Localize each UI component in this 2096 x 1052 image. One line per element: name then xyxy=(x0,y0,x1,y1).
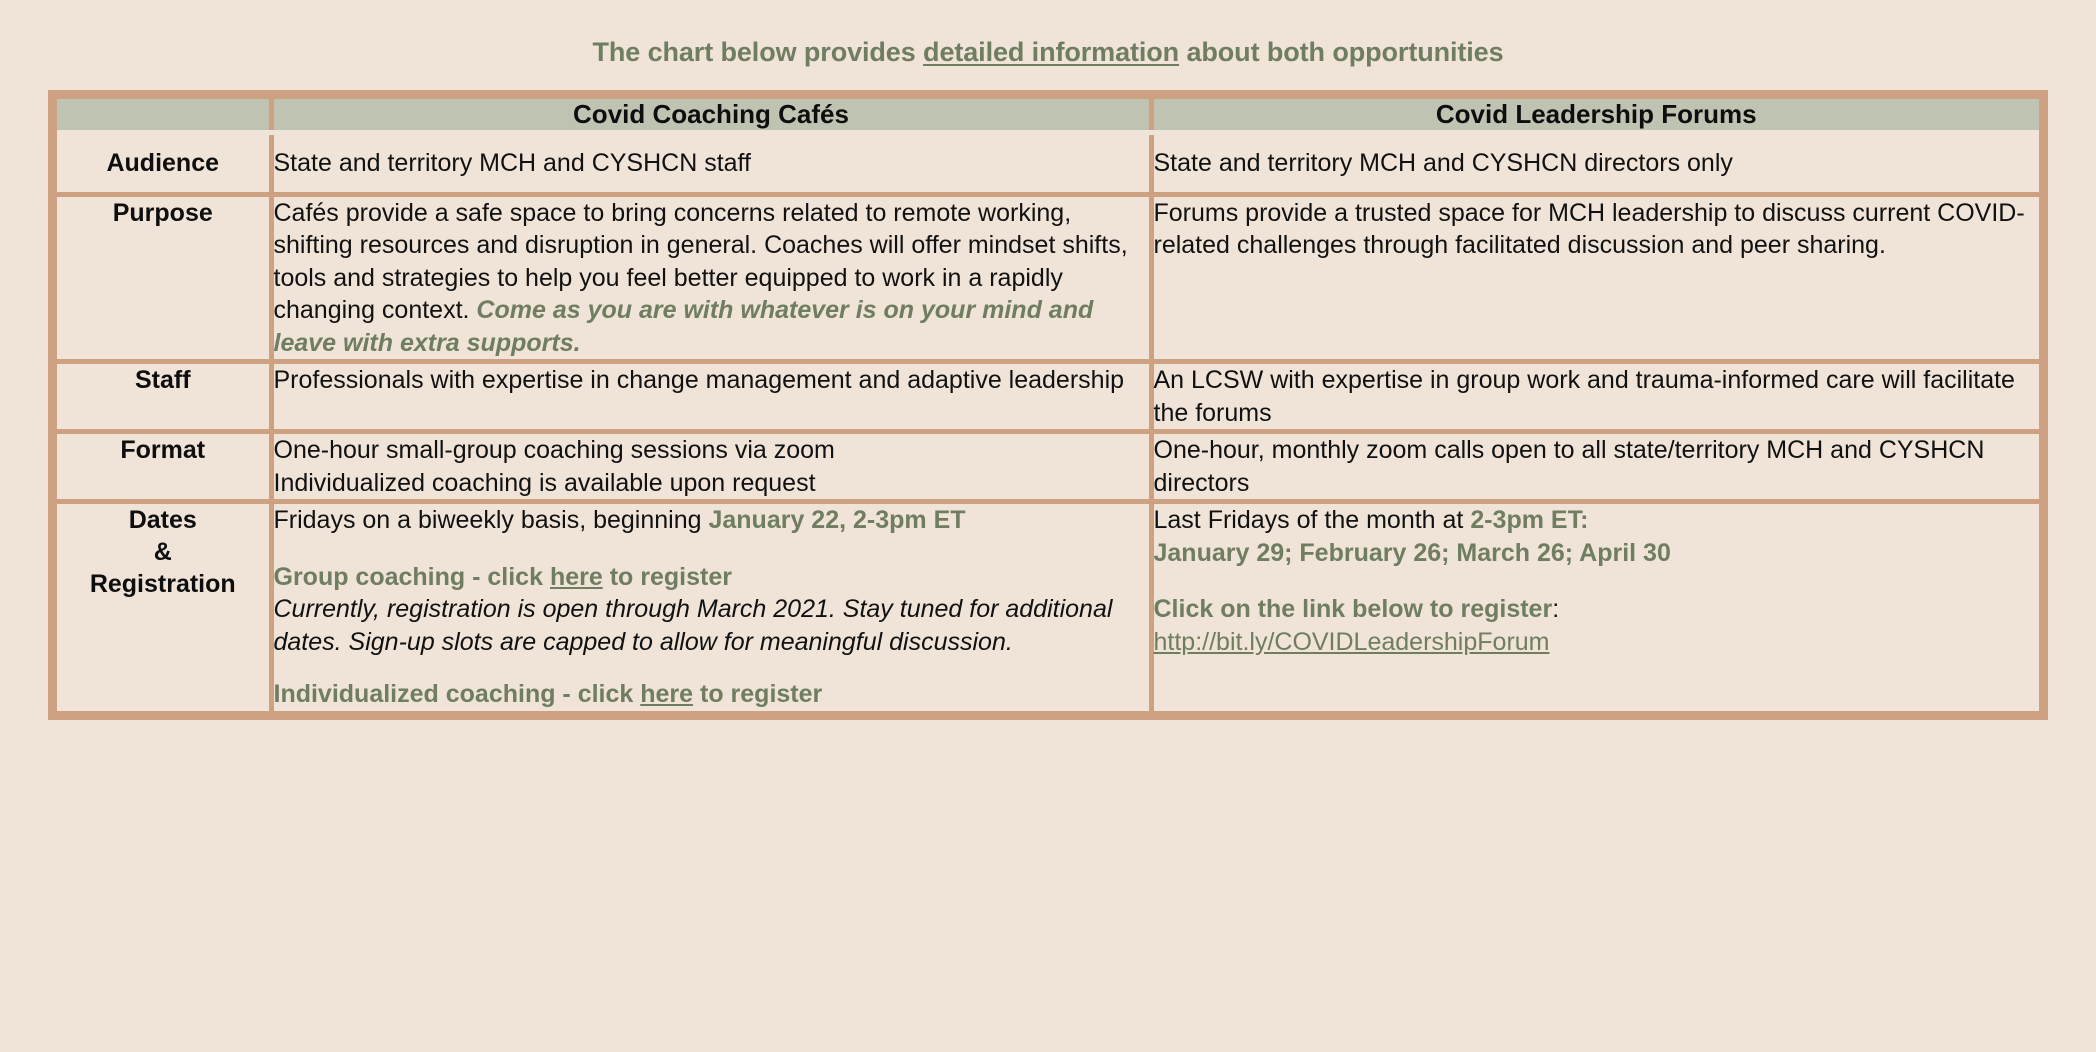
row-label-staff: Staff xyxy=(57,362,271,432)
row-label-dates-line2: & xyxy=(154,538,172,566)
spacer xyxy=(1154,569,2040,593)
row-label-purpose: Purpose xyxy=(57,194,271,362)
table-row-format: Format One-hour small-group coaching ses… xyxy=(57,432,2039,502)
row-label-dates-line3: Registration xyxy=(90,570,236,598)
forums-dates-highlight: 2-3pm ET: xyxy=(1470,506,1588,534)
cell-format-cafes-line1: One-hour small-group coaching sessions v… xyxy=(274,434,1149,467)
group-coaching-here-link[interactable]: here xyxy=(550,563,603,591)
row-label-audience: Audience xyxy=(57,133,271,195)
table-row-purpose: Purpose Cafés provide a safe space to br… xyxy=(57,194,2039,362)
individual-coaching-here-link[interactable]: here xyxy=(640,680,693,708)
page-title-underlined: detailed information xyxy=(923,37,1179,67)
column-header-forums: Covid Leadership Forums xyxy=(1151,99,2039,133)
comparison-table: Covid Coaching Cafés Covid Leadership Fo… xyxy=(57,99,2039,711)
table-header-row: Covid Coaching Cafés Covid Leadership Fo… xyxy=(57,99,2039,133)
cafes-dates-line: Fridays on a biweekly basis, beginning J… xyxy=(274,504,1149,537)
group-coaching-post: to register xyxy=(603,563,732,591)
forums-register-url-line: http://bit.ly/COVIDLeadershipForum xyxy=(1154,626,2040,659)
cell-format-cafes: One-hour small-group coaching sessions v… xyxy=(271,432,1151,502)
cell-format-forums: One-hour, monthly zoom calls open to all… xyxy=(1151,432,2039,502)
row-label-dates-registration: Dates & Registration xyxy=(57,502,271,711)
forums-dates-plain: Last Fridays of the month at xyxy=(1154,506,1471,534)
page-title: The chart below provides detailed inform… xyxy=(0,0,2096,68)
row-label-dates-line1: Dates xyxy=(129,506,197,534)
cell-audience-forums: State and territory MCH and CYSHCN direc… xyxy=(1151,133,2039,195)
forums-register-label-line: Click on the link below to register: xyxy=(1154,593,2040,626)
cell-purpose-cafes: Cafés provide a safe space to bring conc… xyxy=(271,194,1151,362)
group-coaching-register-line: Group coaching - click here to register xyxy=(274,561,1149,594)
group-coaching-pre: Group coaching - click xyxy=(274,563,550,591)
forums-dates-line: Last Fridays of the month at 2-3pm ET: xyxy=(1154,504,2040,537)
cell-format-cafes-line2: Individualized coaching is available upo… xyxy=(274,467,1149,500)
cell-dates-cafes: Fridays on a biweekly basis, beginning J… xyxy=(271,502,1151,711)
table-row-audience: Audience State and territory MCH and CYS… xyxy=(57,133,2039,195)
cell-staff-forums: An LCSW with expertise in group work and… xyxy=(1151,362,2039,432)
cell-dates-forums: Last Fridays of the month at 2-3pm ET: J… xyxy=(1151,502,2039,711)
cafes-dates-plain: Fridays on a biweekly basis, beginning xyxy=(274,506,709,534)
individual-coaching-register-line: Individualized coaching - click here to … xyxy=(274,678,1149,711)
page-root: The chart below provides detailed inform… xyxy=(0,0,2096,1052)
row-label-format: Format xyxy=(57,432,271,502)
forums-dates-list: January 29; February 26; March 26; April… xyxy=(1154,537,2040,570)
cell-purpose-forums: Forums provide a trusted space for MCH l… xyxy=(1151,194,2039,362)
table-row-dates-registration: Dates & Registration Fridays on a biweek… xyxy=(57,502,2039,711)
page-title-before: The chart below provides xyxy=(592,37,923,67)
column-header-cafes: Covid Coaching Cafés xyxy=(271,99,1151,133)
individual-coaching-pre: Individualized coaching - click xyxy=(274,680,641,708)
cell-staff-cafes: Professionals with expertise in change m… xyxy=(271,362,1151,432)
forums-register-colon: : xyxy=(1552,595,1559,623)
spacer xyxy=(274,658,1149,678)
cafes-dates-highlight: January 22, 2-3pm ET xyxy=(708,506,965,534)
header-corner-cell xyxy=(57,99,271,133)
forums-register-url-link[interactable]: http://bit.ly/COVIDLeadershipForum xyxy=(1154,628,1550,656)
comparison-table-container: Covid Coaching Cafés Covid Leadership Fo… xyxy=(48,90,2048,720)
page-title-after: about both opportunities xyxy=(1179,37,1503,67)
cell-audience-cafes: State and territory MCH and CYSHCN staff xyxy=(271,133,1151,195)
spacer xyxy=(274,537,1149,561)
forums-register-label: Click on the link below to register xyxy=(1154,595,1553,623)
table-row-staff: Staff Professionals with expertise in ch… xyxy=(57,362,2039,432)
cafes-registration-note: Currently, registration is open through … xyxy=(274,593,1149,658)
individual-coaching-post: to register xyxy=(693,680,822,708)
